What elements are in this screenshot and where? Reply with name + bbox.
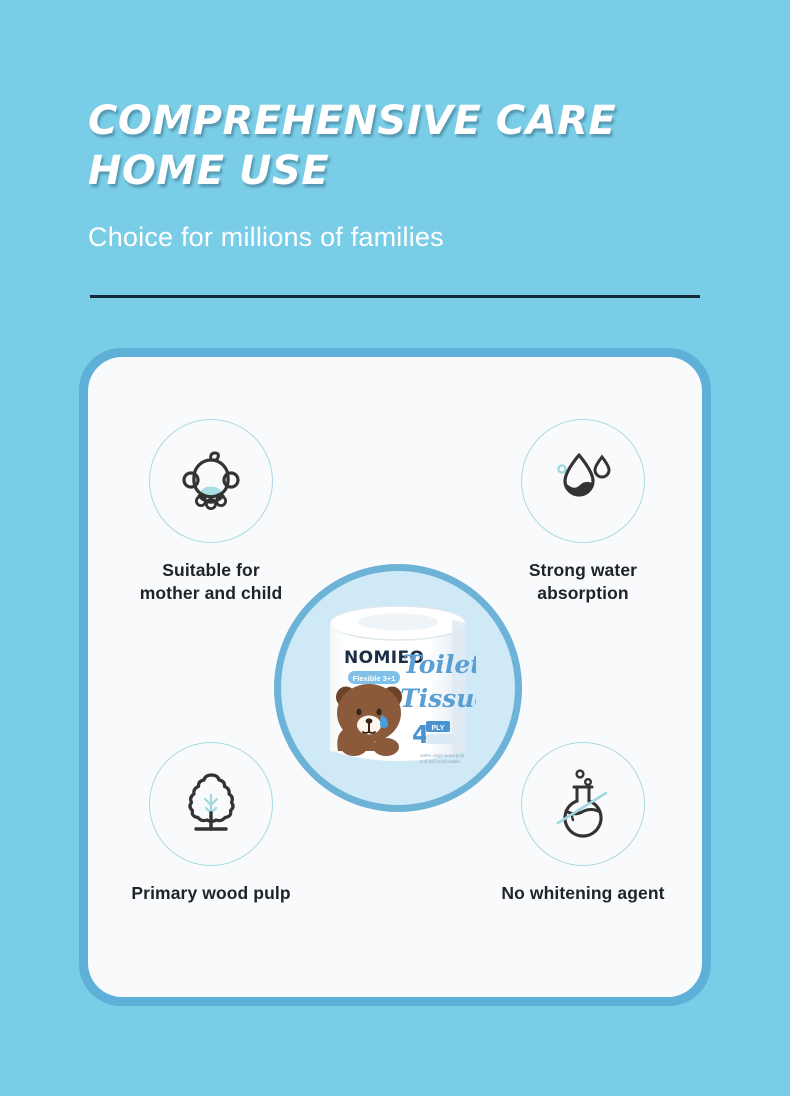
icon-ring: [521, 419, 645, 543]
brand-badge-text: Flexible 3+1: [353, 674, 396, 683]
feature-label: Suitable for mother and child: [96, 559, 326, 605]
features-card: Suitable for mother and child Strong wat…: [79, 348, 711, 1006]
ply-badge-text: PLY: [432, 725, 445, 732]
header-divider: [90, 295, 700, 298]
toilet-roll: NOMIEO Flexible 3+1 Toilet Tissue 4 PLY …: [320, 601, 476, 776]
page-title: COMPREHENSIVE CARE HOME USE: [88, 96, 708, 196]
feature-mother-and-child[interactable]: Suitable for mother and child: [96, 419, 326, 605]
icon-ring: [521, 742, 645, 866]
features-card-inner: Suitable for mother and child Strong wat…: [88, 357, 702, 997]
toilet-roll-illustration: NOMIEO Flexible 3+1 Toilet Tissue 4 PLY …: [320, 601, 476, 776]
feature-label: Strong water absorption: [468, 559, 698, 605]
feature-label: No whitening agent: [468, 882, 698, 905]
feature-water-absorption[interactable]: Strong water absorption: [468, 419, 698, 605]
baby-face-icon: [174, 444, 248, 518]
fine-print-line2: soft and comfortable: [420, 759, 460, 764]
product-image[interactable]: NOMIEO Flexible 3+1 Toilet Tissue 4 PLY …: [274, 564, 522, 812]
feature-wood-pulp[interactable]: Primary wood pulp: [96, 742, 326, 905]
tree-icon: [174, 767, 248, 841]
feature-label: Primary wood pulp: [96, 882, 326, 905]
product-name-line1: Toilet: [403, 650, 476, 679]
brown-bear-mascot: [336, 684, 402, 756]
icon-ring: [149, 742, 273, 866]
water-drop-icon: [546, 444, 620, 518]
fine-print-line1: 100% virgin wood pulp: [420, 753, 465, 758]
flask-no-icon: [546, 767, 620, 841]
page-header: COMPREHENSIVE CARE HOME USE Choice for m…: [88, 96, 708, 253]
page-subtitle: Choice for millions of families: [88, 196, 708, 253]
icon-ring: [149, 419, 273, 543]
product-name-line2: Tissue: [400, 684, 476, 713]
feature-no-whitening-agent[interactable]: No whitening agent: [468, 742, 698, 905]
